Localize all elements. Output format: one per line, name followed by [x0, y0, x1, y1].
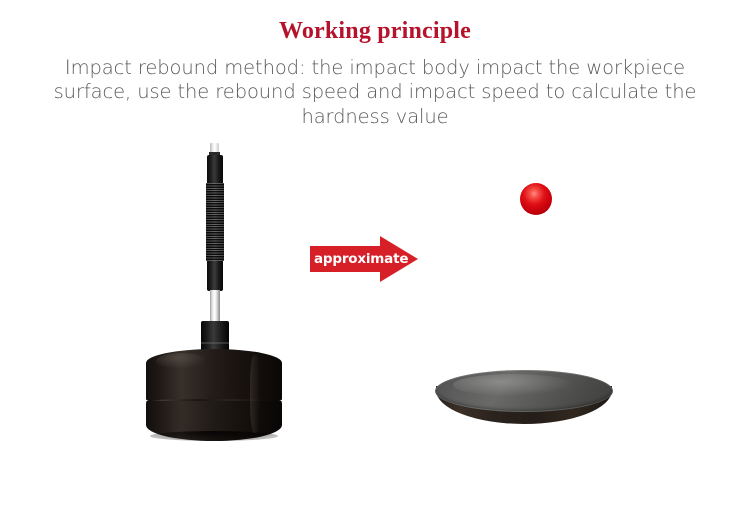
- probe-collar-ring: [201, 342, 229, 344]
- workpiece-disc: [435, 370, 613, 428]
- working-principle-slide: Working principle Impact rebound method:…: [0, 0, 750, 513]
- device-base-highlight: [250, 355, 260, 433]
- page-subtitle: Impact rebound method: the impact body i…: [45, 46, 705, 130]
- arrow-label: approximate: [314, 248, 394, 270]
- approximate-arrow: approximate: [310, 236, 418, 282]
- probe-knurled-grip: [206, 183, 224, 261]
- heading-block: Working principle Impact rebound method:…: [0, 0, 750, 129]
- workpiece-disc-rim: [435, 370, 613, 412]
- page-title: Working principle: [0, 0, 750, 46]
- device-base-upper-sheen: [156, 353, 208, 369]
- device-base-lower-edge: [150, 431, 278, 441]
- probe-lower-barrel: [207, 261, 223, 291]
- probe-upper-barrel: [207, 155, 223, 183]
- impact-ball: [520, 183, 552, 215]
- impact-device: [146, 143, 282, 443]
